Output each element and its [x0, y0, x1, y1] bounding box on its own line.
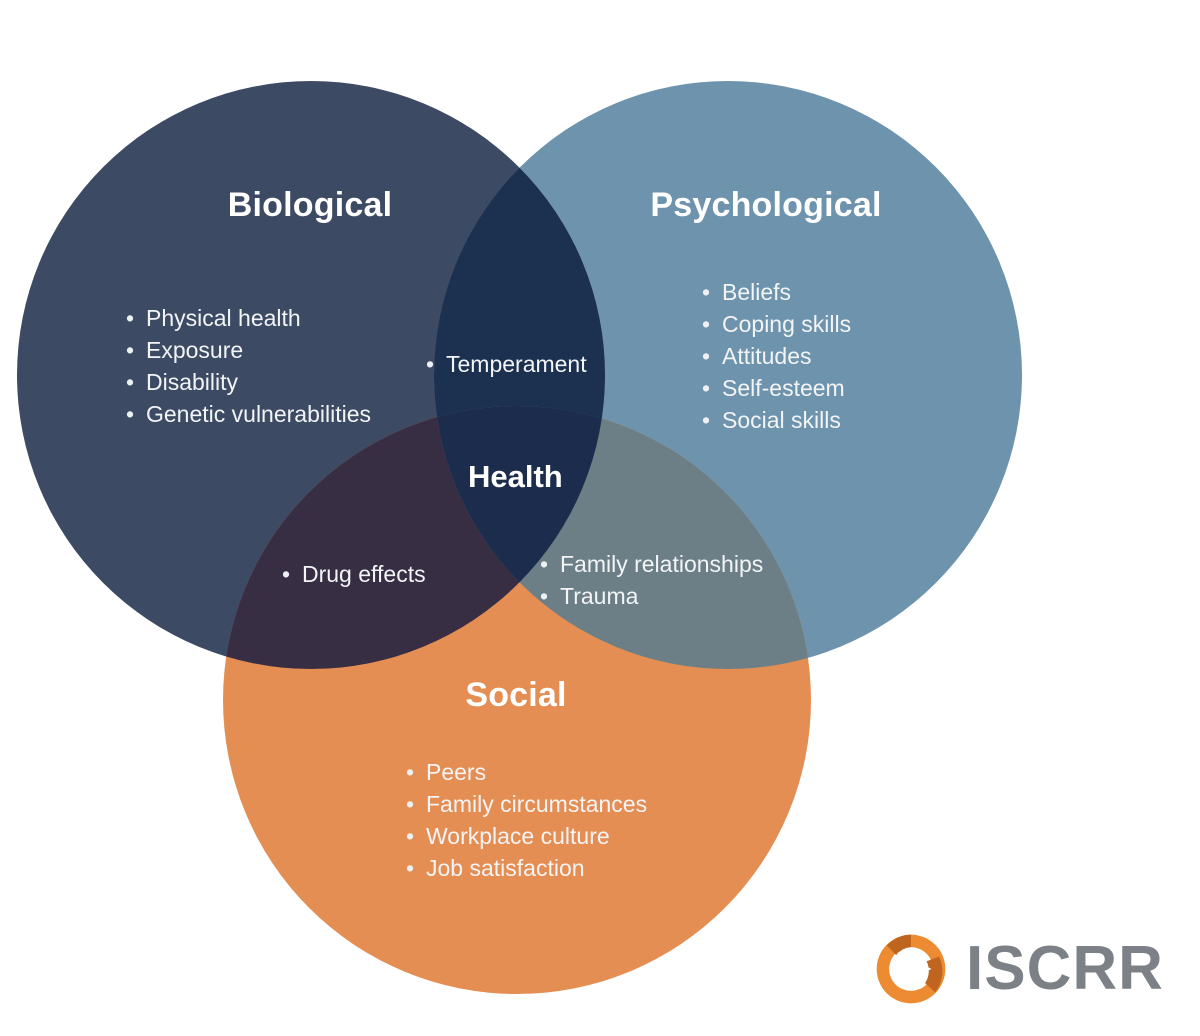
list-item-label: Coping skills: [722, 311, 851, 337]
list-item-label: Temperament: [446, 351, 587, 377]
bullet-icon: •: [702, 308, 710, 340]
list-item-label: Exposure: [146, 337, 243, 363]
list-item: •Temperament: [424, 348, 587, 380]
list-item: •Genetic vulnerabilities: [124, 398, 371, 430]
bullet-icon: •: [702, 372, 710, 404]
circle-title-psychological: Psychological: [606, 186, 926, 225]
circle-title-social: Social: [396, 676, 636, 715]
list-item: •Trauma: [538, 580, 763, 612]
list-item-label: Family relationships: [560, 551, 763, 577]
list-item: •Self-esteem: [700, 372, 851, 404]
bullet-icon: •: [540, 580, 548, 612]
item-list-psychological-social: •Family relationships •Trauma: [538, 548, 763, 612]
list-item: •Drug effects: [280, 558, 426, 590]
list-item-label: Job satisfaction: [426, 855, 585, 881]
item-list-psychological: •Beliefs •Coping skills •Attitudes •Self…: [700, 276, 851, 436]
list-item: •Exposure: [124, 334, 371, 366]
bullet-icon: •: [702, 404, 710, 436]
item-list-biological-psychological: •Temperament: [424, 348, 587, 380]
list-item-label: Workplace culture: [426, 823, 610, 849]
list-item-label: Peers: [426, 759, 486, 785]
bullet-icon: •: [126, 334, 134, 366]
list-item-label: Attitudes: [722, 343, 812, 369]
item-list-social: •Peers •Family circumstances •Workplace …: [404, 756, 647, 884]
list-item: •Family relationships: [538, 548, 763, 580]
list-item-label: Genetic vulnerabilities: [146, 401, 371, 427]
iscrr-logo[interactable]: ISCRR: [872, 930, 1164, 1008]
list-item: •Workplace culture: [404, 820, 647, 852]
bullet-icon: •: [406, 852, 414, 884]
bullet-icon: •: [540, 548, 548, 580]
bullet-icon: •: [702, 340, 710, 372]
bullet-icon: •: [126, 302, 134, 334]
list-item: •Attitudes: [700, 340, 851, 372]
list-item: •Physical health: [124, 302, 371, 334]
list-item: •Job satisfaction: [404, 852, 647, 884]
center-label-health: Health: [468, 459, 563, 495]
bullet-icon: •: [406, 788, 414, 820]
bullet-icon: •: [702, 276, 710, 308]
iscrr-wordmark: ISCRR: [966, 938, 1164, 1000]
list-item-label: Physical health: [146, 305, 301, 331]
bullet-icon: •: [406, 820, 414, 852]
list-item-label: Social skills: [722, 407, 841, 433]
iscrr-mark-icon: [872, 930, 950, 1008]
list-item-label: Beliefs: [722, 279, 791, 305]
list-item-label: Disability: [146, 369, 238, 395]
list-item-label: Self-esteem: [722, 375, 845, 401]
list-item: •Family circumstances: [404, 788, 647, 820]
list-item: •Social skills: [700, 404, 851, 436]
list-item: •Beliefs: [700, 276, 851, 308]
bullet-icon: •: [126, 398, 134, 430]
venn-diagram: Biological Psychological Social •Physica…: [0, 0, 1200, 1036]
list-item: •Peers: [404, 756, 647, 788]
bullet-icon: •: [126, 366, 134, 398]
list-item-label: Family circumstances: [426, 791, 647, 817]
list-item-label: Drug effects: [302, 561, 426, 587]
list-item: •Disability: [124, 366, 371, 398]
circle-title-biological: Biological: [160, 186, 460, 225]
item-list-biological-social: •Drug effects: [280, 558, 426, 590]
bullet-icon: •: [426, 348, 434, 380]
list-item-label: Trauma: [560, 583, 638, 609]
list-item: •Coping skills: [700, 308, 851, 340]
bullet-icon: •: [282, 558, 290, 590]
bullet-icon: •: [406, 756, 414, 788]
item-list-biological: •Physical health •Exposure •Disability •…: [124, 302, 371, 430]
